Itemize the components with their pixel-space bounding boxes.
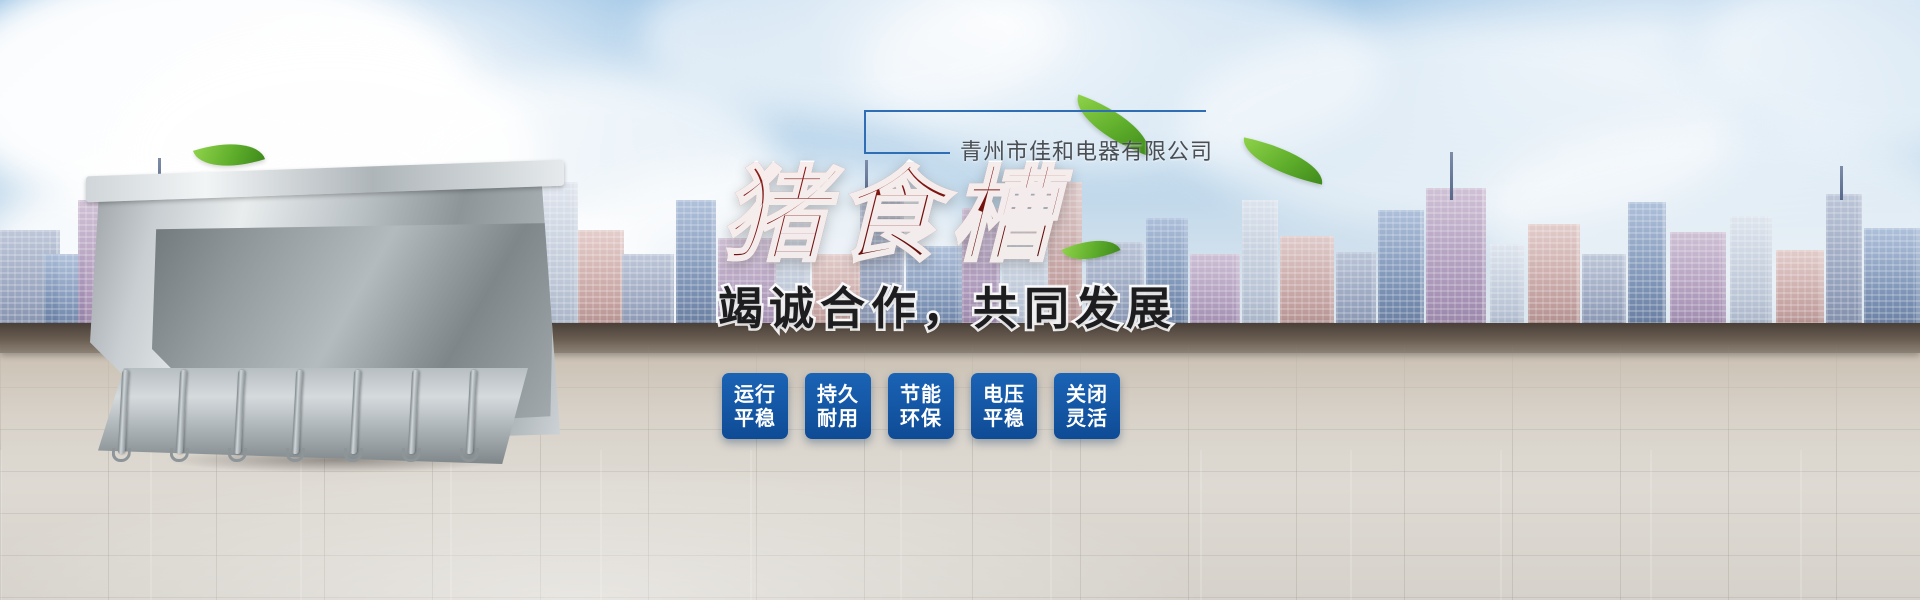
cloud-shape <box>1480 120 1920 310</box>
badge-line-1: 节能 <box>900 382 942 406</box>
product-image-pig-feeder <box>60 150 620 480</box>
feature-badge-5[interactable]: 关闭灵活 <box>1054 373 1120 439</box>
badge-line-2: 平稳 <box>983 406 1025 430</box>
company-name-frame: 青州市佳和电器有限公司 <box>864 100 1200 160</box>
badge-line-1: 电压 <box>983 382 1025 406</box>
banner-copy: 青州市佳和电器有限公司 猪食槽 竭诚合作，共同发展 运行平稳持久耐用节能环保电压… <box>700 100 1220 439</box>
feature-badge-3[interactable]: 节能环保 <box>888 373 954 439</box>
frame-top-rule <box>864 110 1206 112</box>
feature-badge-4[interactable]: 电压平稳 <box>971 373 1037 439</box>
feature-badge-list: 运行平稳持久耐用节能环保电压平稳关闭灵活 <box>722 373 1220 439</box>
badge-line-1: 运行 <box>734 382 776 406</box>
feature-badge-1[interactable]: 运行平稳 <box>722 373 788 439</box>
headline-title: 猪食槽 <box>722 162 1220 268</box>
badge-line-2: 耐用 <box>817 406 859 430</box>
badge-line-2: 灵活 <box>1066 406 1108 430</box>
tagline-slogan: 竭诚合作，共同发展 <box>718 272 1220 337</box>
badge-line-2: 平稳 <box>734 406 776 430</box>
frame-left-rule <box>864 110 866 154</box>
feature-badge-2[interactable]: 持久耐用 <box>805 373 871 439</box>
badge-line-1: 关闭 <box>1066 382 1108 406</box>
promo-banner: 青州市佳和电器有限公司 猪食槽 竭诚合作，共同发展 运行平稳持久耐用节能环保电压… <box>0 0 1920 600</box>
badge-line-2: 环保 <box>900 406 942 430</box>
trough-divider-bars <box>120 370 520 460</box>
badge-line-1: 持久 <box>817 382 859 406</box>
